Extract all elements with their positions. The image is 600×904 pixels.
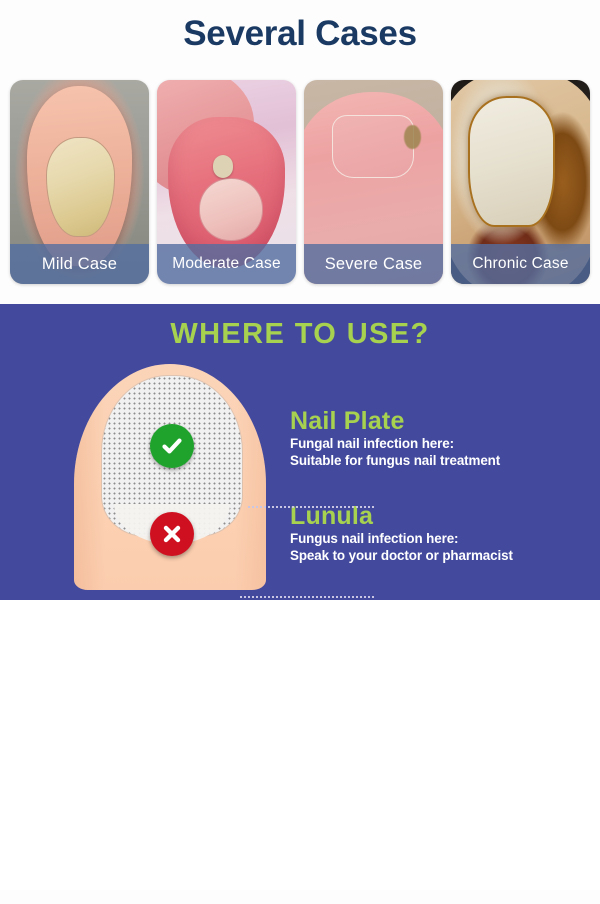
section-title: WHERE TO USE? [0,318,600,351]
label-lunula: Lunula Fungus nail infection here: Speak… [290,503,590,564]
nail-region [46,137,115,237]
lesion-spot [213,155,234,177]
label-title: Nail Plate [290,408,590,435]
label-line-1: Fungus nail infection here: [290,530,590,547]
nail-region [332,115,415,178]
label-line-2: Suitable for fungus nail treatment [290,452,590,469]
label-line-1: Fungal nail infection here: [290,435,590,452]
leader-line-nail-plate [248,506,374,508]
cross-mark-icon [150,512,194,556]
finger-illustration [62,364,277,600]
several-cases-section: Several Cases Mild Case Moderate Case [0,0,600,304]
case-card-mild[interactable]: Mild Case [10,80,149,284]
nail-region [199,178,264,241]
case-card-row: Mild Case Moderate Case Severe Case [10,80,590,284]
case-caption: Moderate Case [157,244,296,284]
check-mark-icon [150,424,194,468]
case-card-chronic[interactable]: Chronic Case [451,80,590,284]
nail-region [468,96,555,226]
label-spacer [290,475,590,503]
label-nail-plate: Nail Plate Fungal nail infection here: S… [290,408,590,469]
page-title: Several Cases [0,14,600,54]
leader-line-lunula [240,596,374,598]
case-caption: Severe Case [304,244,443,284]
label-line-2: Speak to your doctor or pharmacist [290,547,590,564]
where-to-use-section: WHERE TO USE? Nail Plate Fun [0,304,600,600]
lesion-spot [404,125,421,149]
case-card-moderate[interactable]: Moderate Case [157,80,296,284]
case-caption: Chronic Case [451,244,590,284]
label-column: Nail Plate Fungal nail infection here: S… [290,408,590,571]
case-caption: Mild Case [10,244,149,284]
bottom-white-strip [0,890,600,904]
case-card-severe[interactable]: Severe Case [304,80,443,284]
promo-graphic: Several Cases Mild Case Moderate Case [0,0,600,600]
